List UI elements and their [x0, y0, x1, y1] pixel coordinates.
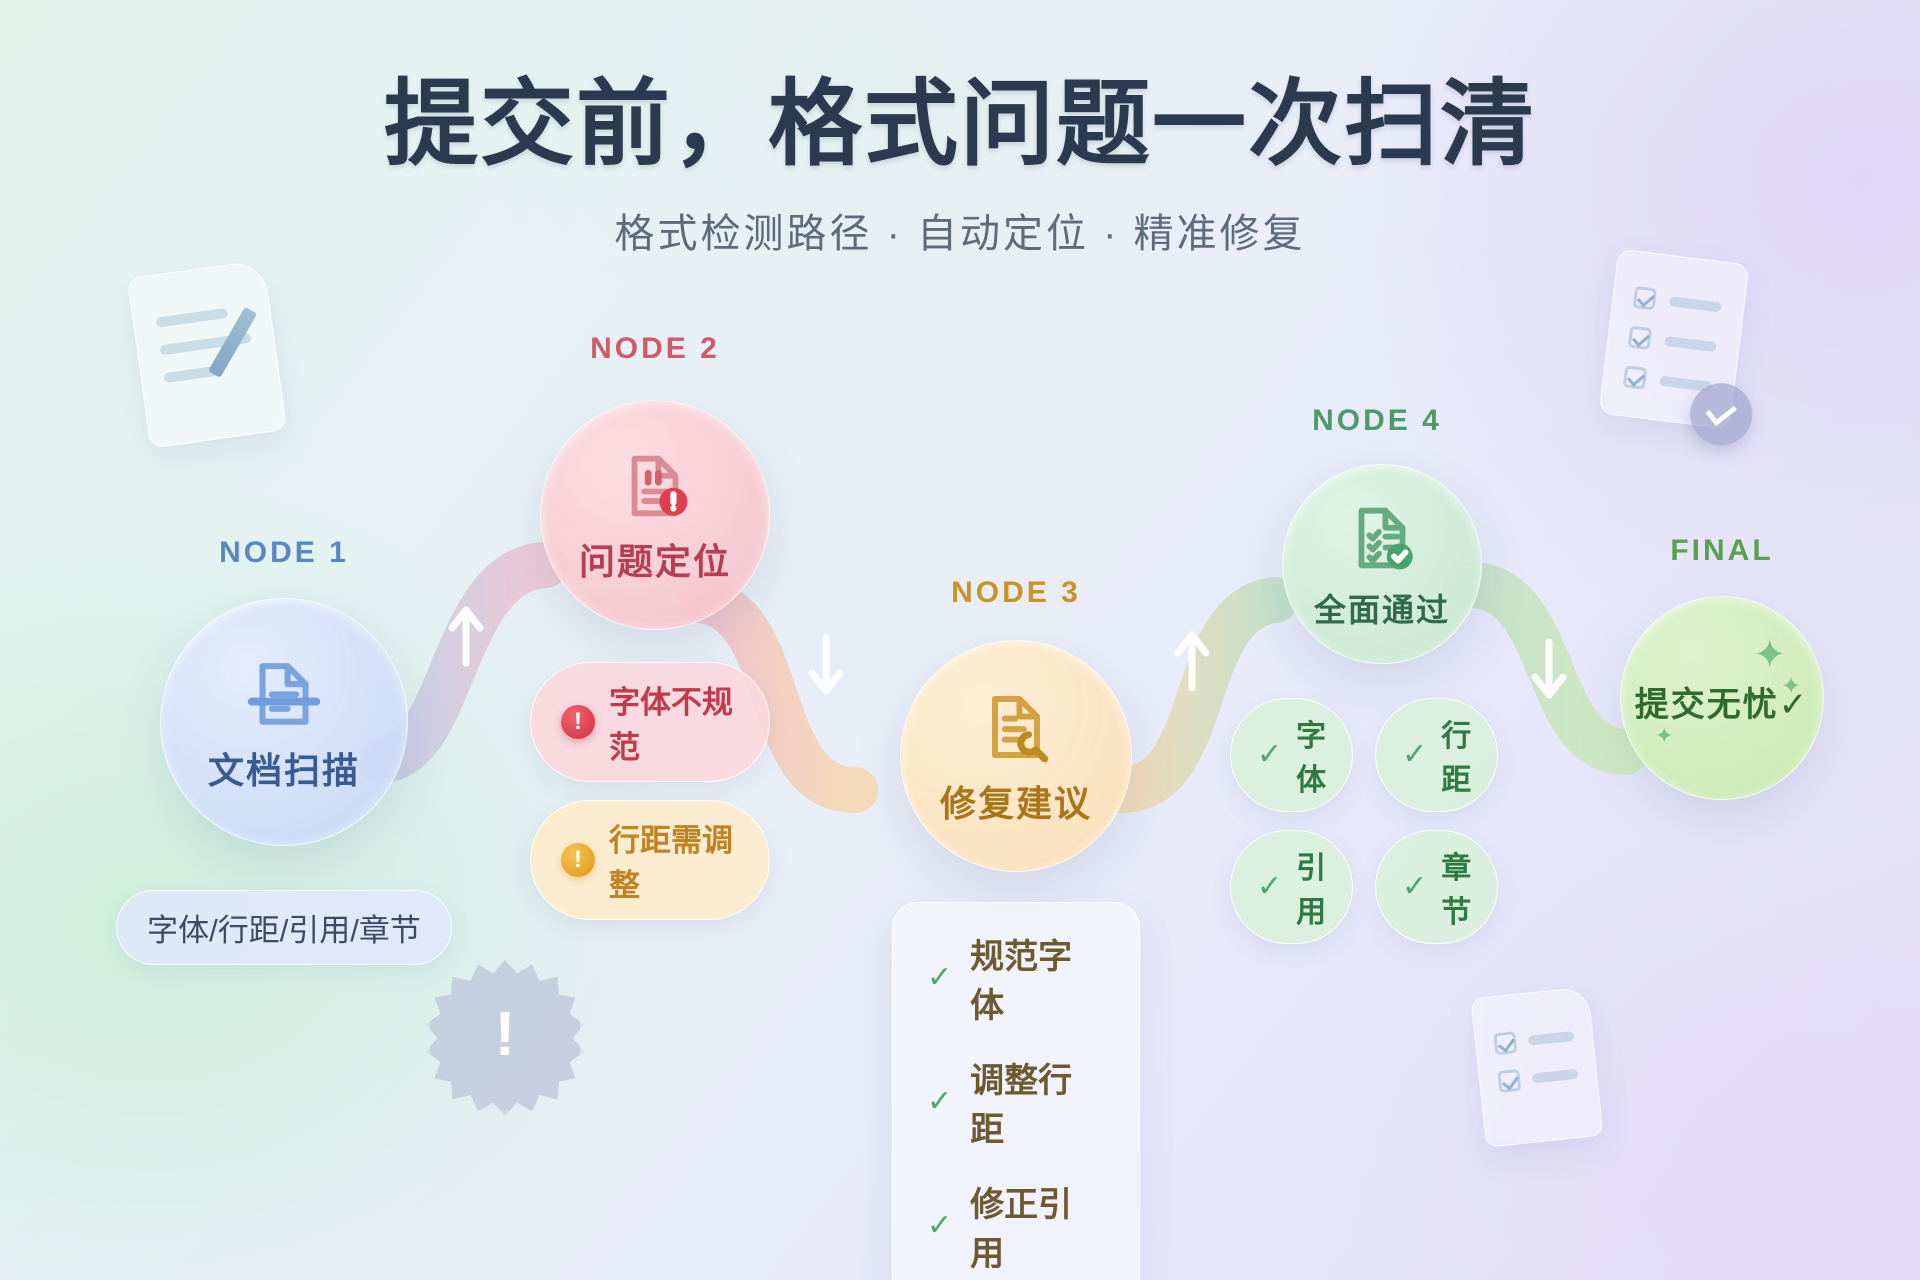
check-icon: ✓ — [1257, 740, 1282, 770]
node-2-kicker: NODE 2 — [495, 332, 815, 366]
node-final-kicker: FINAL — [1562, 534, 1882, 568]
node-final[interactable]: FINAL ✦ ✦ ✦ 提交无忧✓ — [1620, 570, 1824, 800]
warning-circle-icon: ! — [561, 843, 595, 877]
header: 提交前，格式问题一次扫清 格式检测路径 · 自动定位 · 精准修复 — [0, 72, 1920, 259]
pass-chip[interactable]: ✓ 字体 — [1230, 698, 1353, 812]
document-repair-icon — [974, 685, 1058, 769]
node-1-pills: 字体/行距/引用/章节 — [116, 890, 452, 965]
pass-chip[interactable]: ✓ 引用 — [1230, 830, 1353, 944]
check-icon: ✓ — [927, 963, 952, 993]
alert-burst-icon: ! — [430, 960, 580, 1110]
node-4-chips: ✓ 字体 ✓ 行距 ✓ 引用 ✓ 章节 — [1230, 698, 1498, 944]
issue-badge-linespacing-label: 行距需调整 — [609, 815, 739, 905]
issue-badge-font[interactable]: ! 字体不规范 — [530, 662, 770, 782]
node-3[interactable]: NODE 3 修复建议 ✓ 规范字体 ✓ 调整行距 ✓ 修正 — [900, 640, 1132, 872]
node-1-bubble[interactable]: 文档扫描 — [160, 598, 408, 846]
tag-scan-scope[interactable]: 字体/行距/引用/章节 — [116, 890, 452, 965]
alert-circle-icon: ! — [561, 705, 595, 739]
issue-badge-linespacing[interactable]: ! 行距需调整 — [530, 800, 770, 920]
issue-badge-font-label: 字体不规范 — [609, 677, 739, 767]
pass-chip[interactable]: ✓ 行距 — [1375, 698, 1498, 812]
page-title: 提交前，格式问题一次扫清 — [0, 72, 1920, 175]
check-icon: ✓ — [1402, 872, 1427, 902]
node-3-checklist-card: ✓ 规范字体 ✓ 调整行距 ✓ 修正引用 ✓ 优化章节 — [892, 902, 1140, 1280]
node-1-label: 文档扫描 — [208, 742, 360, 794]
tag-scan-scope-label: 字体/行距/引用/章节 — [147, 905, 421, 950]
pass-chip-label: 行距 — [1441, 711, 1471, 799]
node-4-kicker: NODE 4 — [1217, 404, 1537, 438]
node-3-bubble[interactable]: 修复建议 — [900, 640, 1132, 872]
node-2[interactable]: NODE 2 问题定位 ! 字体不规范 ! 行距需调整 — [540, 400, 770, 630]
node-3-kicker: NODE 3 — [856, 576, 1176, 610]
check-icon: ✓ — [1402, 740, 1427, 770]
infographic-canvas: 提交前，格式问题一次扫清 格式检测路径 · 自动定位 · 精准修复 ! — [0, 0, 1920, 1280]
check-icon: ✓ — [927, 1211, 952, 1241]
checklist-item[interactable]: ✓ 规范字体 — [927, 929, 1105, 1027]
node-4[interactable]: NODE 4 全面通过 ✓ 字体 ✓ 行距 — [1272, 440, 1482, 664]
document-checklist-verified-icon — [1341, 497, 1423, 579]
checklist-item[interactable]: ✓ 修正引用 — [927, 1177, 1105, 1275]
pass-chip[interactable]: ✓ 章节 — [1375, 830, 1498, 944]
node-1-kicker: NODE 1 — [124, 536, 444, 570]
document-alert-icon — [614, 445, 696, 527]
pass-chip-label: 章节 — [1441, 843, 1471, 931]
pass-chip-label: 字体 — [1296, 711, 1326, 799]
checklist-item-label: 规范字体 — [970, 929, 1105, 1027]
document-pen-icon — [127, 259, 288, 449]
checklist-item-label: 修正引用 — [970, 1177, 1105, 1275]
checklist-document-icon — [1598, 249, 1749, 430]
pass-chip-label: 引用 — [1296, 843, 1326, 931]
node-2-bubble[interactable]: 问题定位 — [540, 400, 770, 630]
checklist-item-label: 调整行距 — [970, 1053, 1105, 1151]
document-scan-icon — [241, 650, 327, 736]
node-1[interactable]: NODE 1 文档扫描 字体/行距/引用/章节 — [160, 560, 408, 846]
node-4-bubble[interactable]: 全面通过 — [1282, 464, 1482, 664]
checklist-item[interactable]: ✓ 调整行距 — [927, 1053, 1105, 1151]
node-2-pills: ! 字体不规范 ! 行距需调整 — [530, 662, 770, 920]
alert-burst-glyph: ! — [495, 1004, 516, 1066]
check-icon: ✓ — [927, 1087, 952, 1117]
node-3-label: 修复建议 — [940, 775, 1092, 827]
check-icon: ✓ — [1257, 872, 1282, 902]
sparkles-icon: ✦ ✦ ✦ — [1621, 597, 1823, 799]
node-4-label: 全面通过 — [1314, 585, 1450, 631]
node-2-label: 问题定位 — [579, 533, 731, 585]
checklist-document-icon — [1470, 986, 1603, 1148]
node-final-bubble[interactable]: ✦ ✦ ✦ 提交无忧✓ — [1620, 596, 1824, 800]
